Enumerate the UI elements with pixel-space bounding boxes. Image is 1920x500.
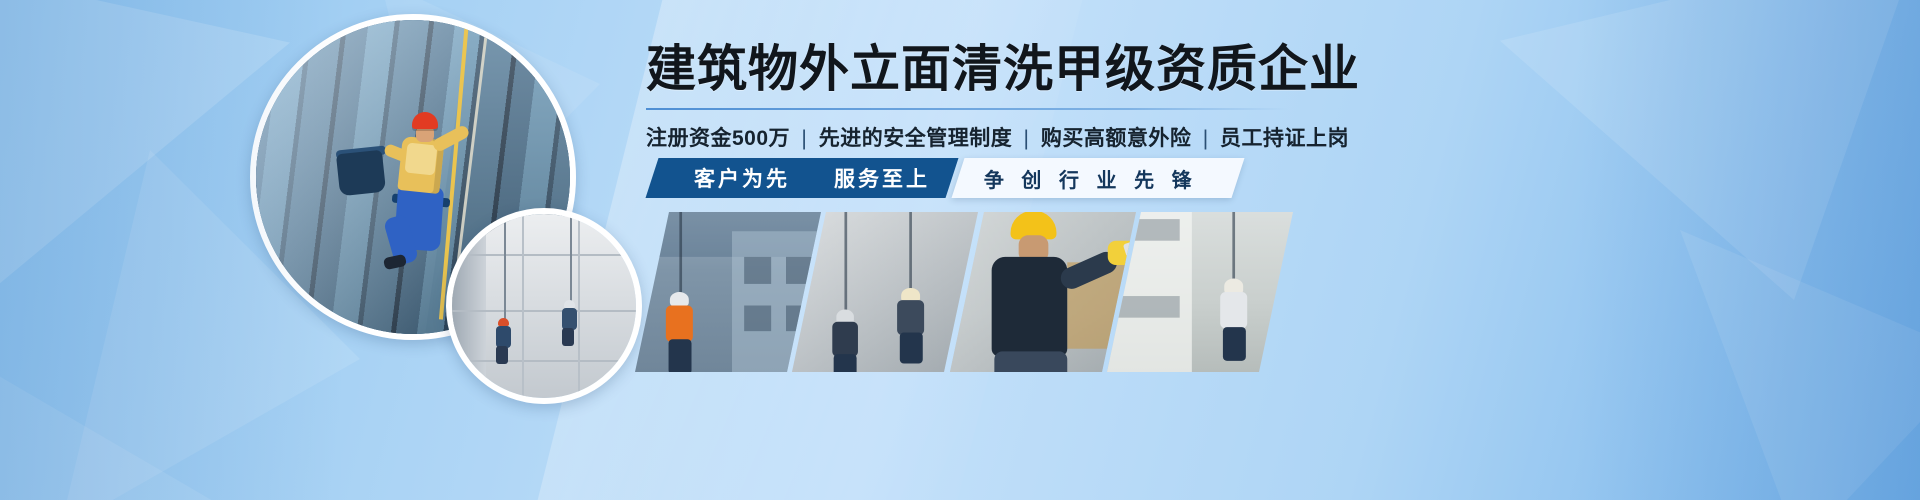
strip-photo-3: [949, 212, 1135, 372]
worker-legs: [496, 346, 508, 364]
subtitle-item-3: 购买高额意外险: [1041, 127, 1192, 150]
worker-torso: [832, 322, 859, 357]
strip-photo-1: [635, 212, 821, 372]
worker-helmet: [498, 318, 509, 326]
safety-rope: [910, 212, 913, 296]
wall-seam: [452, 254, 636, 256]
window: [745, 305, 772, 331]
circle-photo-grey-wall: [446, 208, 642, 404]
worker-vest: [666, 305, 693, 342]
wall-seam: [452, 310, 636, 312]
worker-legs: [994, 351, 1067, 372]
window: [786, 257, 813, 283]
safety-rope: [1233, 212, 1236, 288]
subtitle-item-2: 先进的安全管理制度: [819, 127, 1013, 150]
photo-strip: [652, 212, 1276, 372]
worker-vest: [405, 143, 438, 176]
banner-title: 建筑物外立面清洗甲级资质企业: [646, 44, 1306, 94]
subtitle-item-1: 注册资金500万: [646, 127, 790, 150]
strip-photo-4: [1107, 212, 1293, 372]
window: [745, 257, 772, 283]
worker-torso: [562, 308, 577, 330]
safety-rope: [570, 214, 572, 306]
subtitle-separator: |: [1198, 127, 1214, 150]
strip-photo-2: [792, 212, 978, 372]
strip-photo-4-image: [1107, 212, 1293, 372]
title-divider: [646, 108, 1288, 110]
worker-legs: [562, 328, 574, 346]
worker-legs: [669, 340, 692, 372]
subtitle-separator: |: [796, 127, 812, 150]
strip-photo-2-image: [792, 212, 978, 372]
strip-photo-1-image: [635, 212, 821, 372]
slogan-bar: 客户为先 服务至上 争 创 行 业 先 锋: [652, 158, 1238, 198]
wall-seam: [452, 360, 636, 362]
worker-torso: [1220, 292, 1247, 329]
subtitle-separator: |: [1019, 127, 1035, 150]
grey-facade-image: [452, 214, 636, 398]
worker-helmet: [564, 300, 575, 308]
safety-rope: [504, 214, 506, 324]
subtitle-item-4: 员工持证上岗: [1220, 127, 1349, 150]
headline-block: 建筑物外立面清洗甲级资质企业 注册资金500万 | 先进的安全管理制度 | 购买…: [646, 44, 1306, 152]
safety-rope: [844, 212, 847, 318]
worker-torso: [991, 257, 1067, 357]
strip-photo-3-image: [949, 212, 1135, 372]
worker-legs: [900, 333, 923, 363]
wall-seam-vertical: [522, 214, 524, 398]
worker-torso: [496, 326, 511, 348]
slogan-highlight-segment: 争 创 行 业 先 锋: [952, 158, 1245, 198]
wall-seam-vertical: [578, 214, 580, 398]
slogan-primary-segment: 客户为先 服务至上: [646, 158, 959, 198]
banner-subtitle: 注册资金500万 | 先进的安全管理制度 | 购买高额意外险 | 员工持证上岗: [646, 122, 1306, 152]
slogan-secondary: 服务至上: [834, 163, 930, 193]
concrete-wall: [792, 212, 978, 372]
safety-rope: [679, 212, 682, 301]
wall-edge-shadow: [452, 214, 486, 398]
promotional-banner: 建筑物外立面清洗甲级资质企业 注册资金500万 | 先进的安全管理制度 | 购买…: [0, 0, 1920, 500]
water-bucket: [336, 150, 386, 197]
slogan-highlight: 争 创 行 业 先 锋: [984, 164, 1198, 193]
worker-legs: [834, 355, 857, 372]
worker-legs: [1222, 327, 1245, 362]
slogan-primary: 客户为先: [694, 163, 790, 193]
worker-torso: [898, 301, 925, 336]
